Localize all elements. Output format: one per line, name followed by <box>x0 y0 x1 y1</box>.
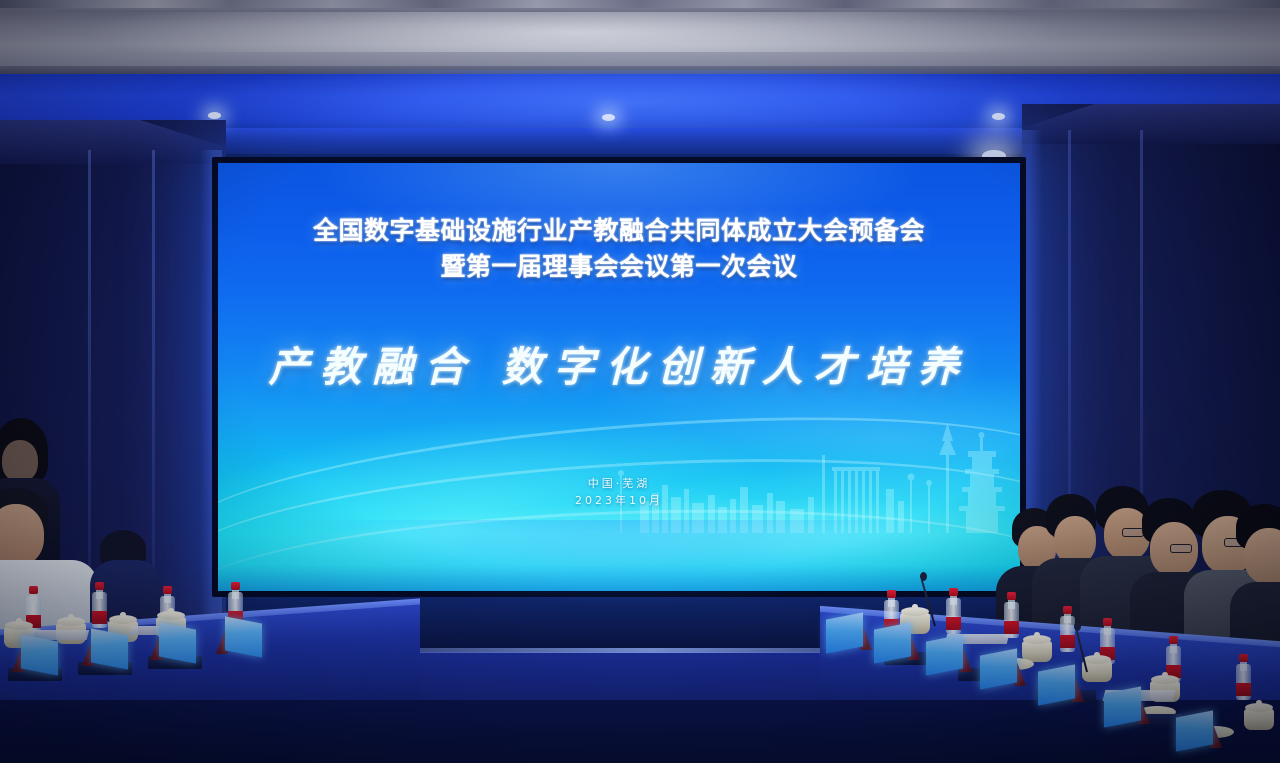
ceiling-downlight <box>602 114 615 121</box>
screen-bottom-band <box>218 533 1020 591</box>
name-tent-card <box>1038 668 1094 710</box>
microphone-head <box>1074 622 1081 631</box>
screen-date: 2023年10月 <box>218 492 1020 509</box>
eyeglasses <box>1122 528 1144 537</box>
water-bottle <box>1236 654 1251 700</box>
name-tent-card <box>826 616 872 650</box>
screen-headline-line2: 暨第一届理事会会议第一次会议 <box>218 249 1020 285</box>
water-bottle <box>946 588 961 634</box>
water-bottle <box>1060 606 1075 652</box>
conference-room-photo: 全国数字基础设施行业产教融合共同体成立大会预备会 暨第一届理事会会议第一次会议 … <box>0 0 1280 763</box>
attendee-head <box>0 504 44 566</box>
attendee-head <box>2 440 38 482</box>
screen-headline: 全国数字基础设施行业产教融合共同体成立大会预备会 暨第一届理事会会议第一次会议 <box>218 213 1020 285</box>
water-bottle <box>92 582 107 628</box>
screen-location: 中国·芜湖 <box>218 475 1020 492</box>
name-tent-card <box>12 638 58 672</box>
ceiling-soffit-highlight <box>0 12 1280 52</box>
name-tent-card <box>150 626 196 660</box>
eyeglasses <box>1170 544 1192 553</box>
name-tent-card <box>1104 690 1164 736</box>
led-video-wall: 全国数字基础设施行业产教融合共同体成立大会预备会 暨第一届理事会会议第一次会议 … <box>218 163 1020 591</box>
name-tent-card <box>874 626 920 660</box>
name-tent-card <box>980 652 1032 690</box>
ceiling-downlight <box>992 113 1005 120</box>
name-tent-card <box>926 638 972 672</box>
screen-slogan: 产教融合 数字化创新人才培养 <box>218 333 1020 393</box>
name-tent-card <box>216 620 262 654</box>
water-bottle <box>1004 592 1019 638</box>
city-skyline-graphic <box>610 389 1010 539</box>
screen-headline-line1: 全国数字基础设施行业产教融合共同体成立大会预备会 <box>218 213 1020 249</box>
screen-location-date: 中国·芜湖 2023年10月 <box>218 475 1020 509</box>
tea-cup <box>1244 700 1274 730</box>
attendee-head <box>1054 516 1096 564</box>
attendee-head <box>1244 528 1280 584</box>
name-tent-card <box>82 632 128 666</box>
name-tent-card <box>1176 714 1240 763</box>
microphone-head <box>920 572 927 581</box>
ceiling-downlight <box>208 112 221 119</box>
